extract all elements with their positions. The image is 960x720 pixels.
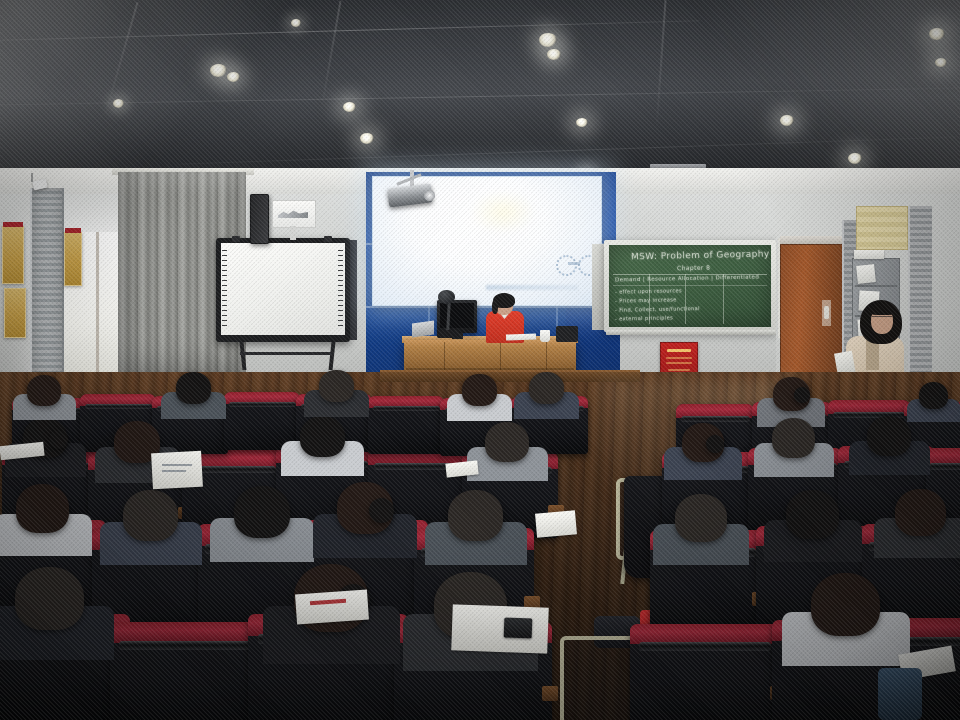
lecture-hall-photo: MSW: Problem of Geography Chapter 8 Dema…	[0, 0, 960, 720]
attendee-head	[895, 489, 946, 536]
attendee-head	[16, 484, 69, 533]
attendee-head	[919, 382, 948, 409]
handout-papers	[295, 590, 369, 625]
attendee-head	[786, 490, 839, 539]
attendee-head	[27, 375, 61, 406]
handout-papers	[451, 604, 549, 653]
attendee-head	[811, 573, 880, 636]
page-text-line	[162, 470, 186, 472]
attendee-hair-bun	[369, 498, 394, 523]
attendee-head	[300, 416, 345, 457]
attendee-head	[485, 422, 529, 462]
attendee-head	[123, 490, 178, 541]
attendee-head	[529, 372, 564, 404]
attendee-head	[448, 490, 503, 541]
attendee-hair-bun	[49, 430, 68, 449]
attendee-hair-bun	[706, 435, 724, 453]
attendee-jeans	[878, 668, 922, 720]
page-text-line	[162, 464, 192, 466]
handout-papers	[535, 510, 577, 537]
attendee-head	[234, 486, 290, 538]
attendee-head	[176, 372, 211, 404]
attendee-head	[319, 370, 354, 402]
attendee-head	[675, 494, 727, 542]
smartphone[interactable]	[504, 618, 533, 639]
attendee-head	[867, 416, 911, 456]
attendee-hair-bun	[794, 387, 810, 403]
attendee-head	[462, 374, 497, 406]
attendee-head	[772, 418, 815, 458]
attendee-head	[15, 567, 84, 630]
